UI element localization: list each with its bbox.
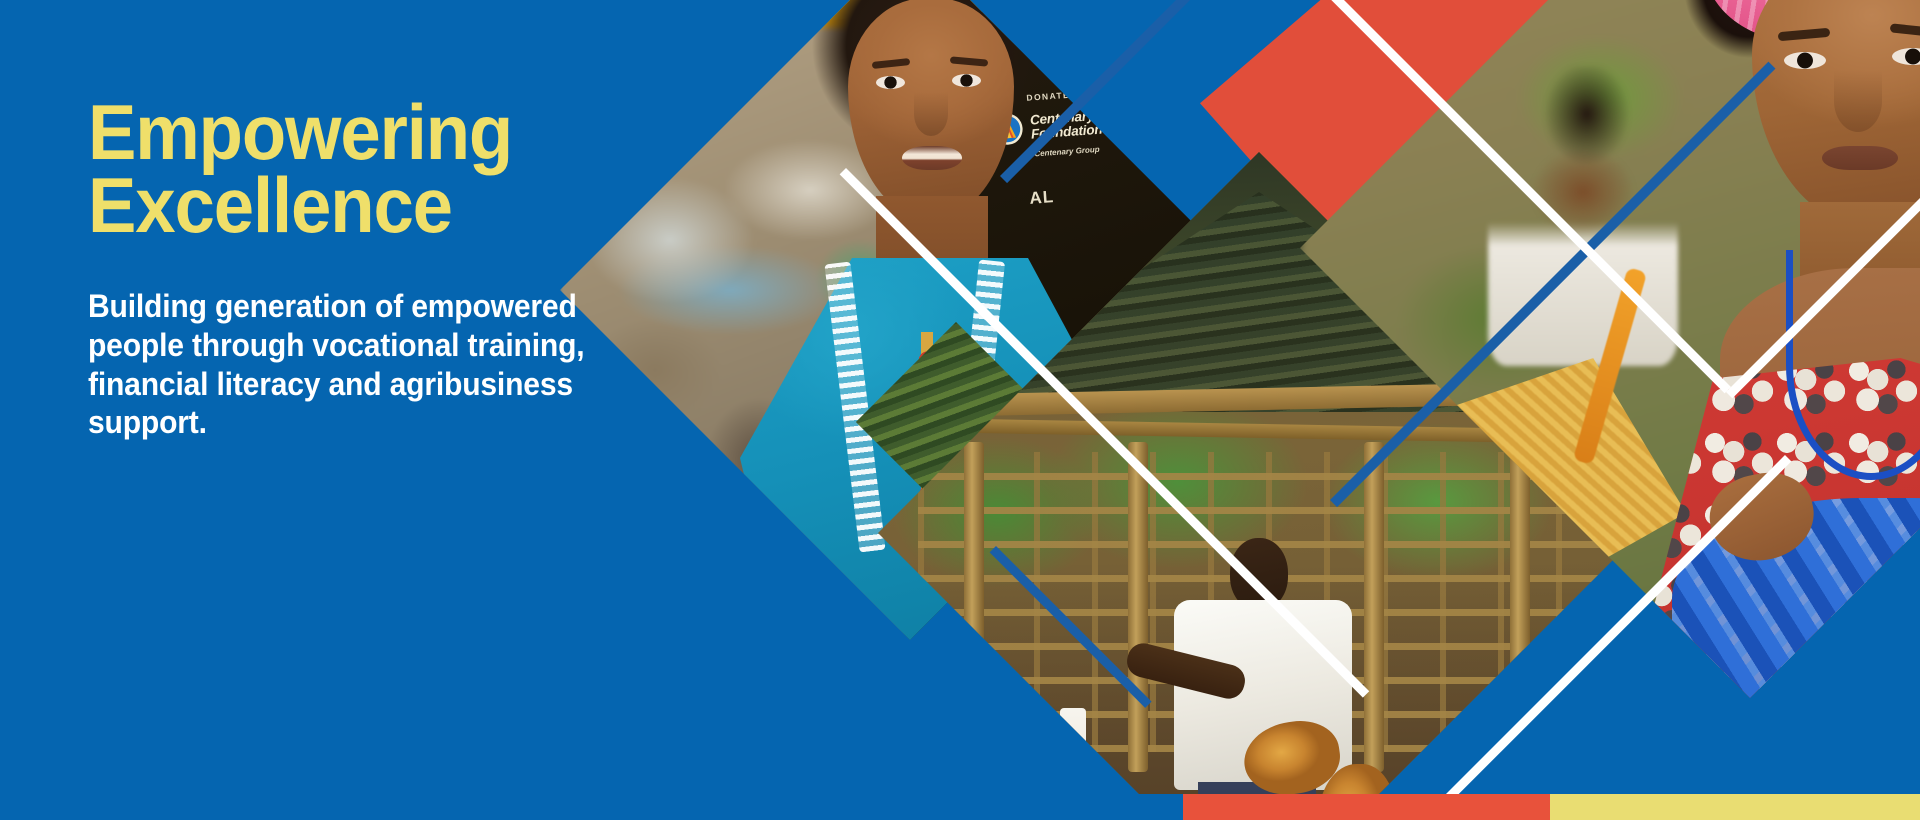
subject-nose (1834, 70, 1882, 132)
subject-eye-left (876, 76, 905, 89)
subject-nose (914, 92, 948, 136)
accent-strip-yellow-segment (1550, 794, 1920, 820)
bottom-accent-strip (1183, 794, 1920, 820)
photo-mosaic: DONATED BY: Centenary Foundation Centena… (560, 0, 1920, 820)
hero-banner: DONATED BY: Centenary Foundation Centena… (0, 0, 1920, 820)
banner-subtitle: Building generation of empowered people … (88, 287, 652, 442)
banner-text-column: Empowering Excellence Building generatio… (88, 96, 688, 442)
shed-post (964, 442, 984, 772)
subject-mouth (1822, 146, 1898, 170)
subject-eye-left (1784, 52, 1826, 69)
subject-eye-right (952, 74, 981, 87)
chicken (1026, 748, 1088, 794)
poultry-drinker (1060, 708, 1086, 774)
accent-strip-red-segment (1183, 794, 1550, 820)
page-title: Empowering Excellence (88, 96, 646, 241)
bottom-blue-panel (0, 794, 1183, 820)
shed-post (1364, 442, 1384, 772)
shed-post (1128, 442, 1148, 772)
subject-mouth (902, 146, 962, 170)
